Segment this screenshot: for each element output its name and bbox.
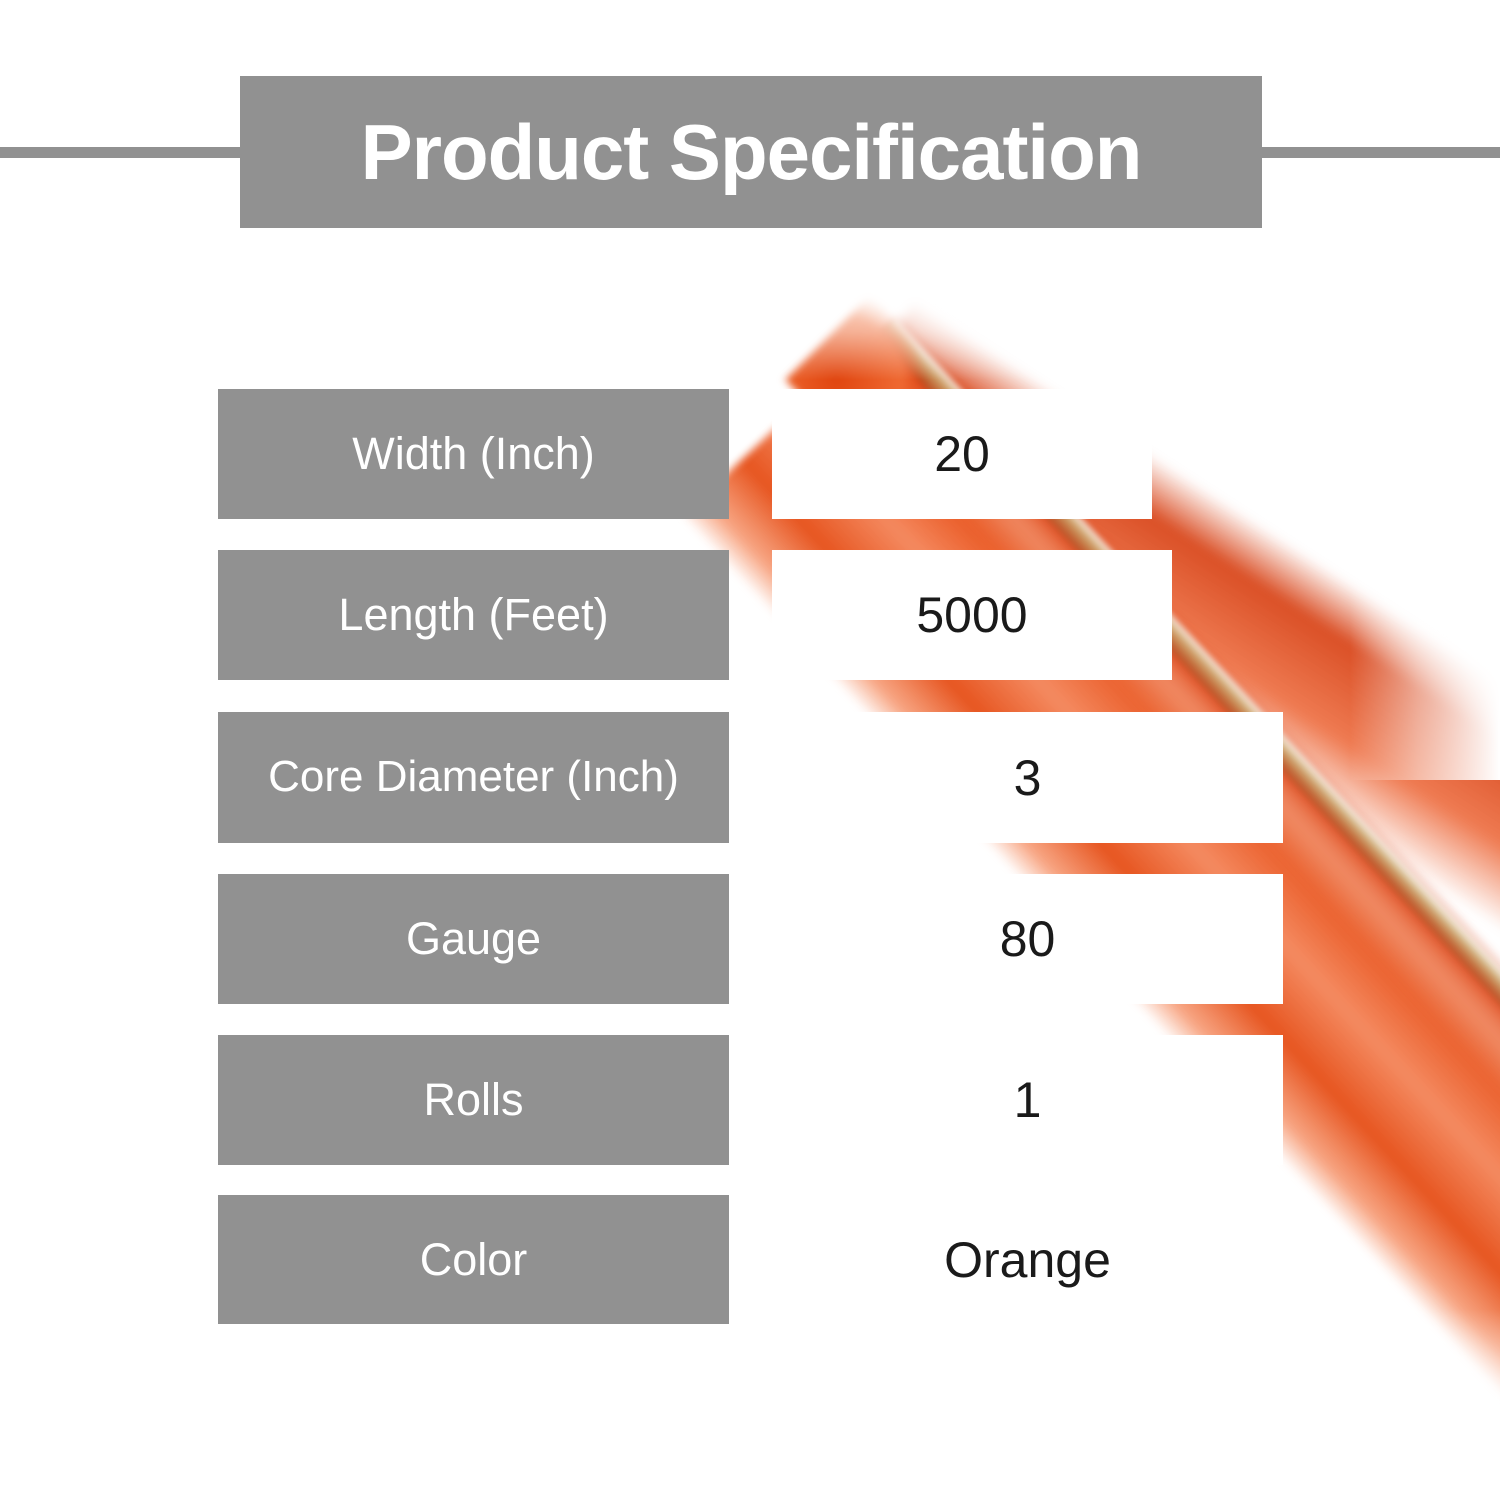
specification-table: Width (Inch) 20 Length (Feet) 5000 Core … bbox=[0, 0, 1500, 1500]
spec-label-length: Length (Feet) bbox=[218, 550, 729, 680]
spec-value-length: 5000 bbox=[772, 550, 1172, 680]
spec-value-color: Orange bbox=[772, 1195, 1283, 1324]
product-specification-card: Product Specification Width (Inch) 20 Le… bbox=[0, 0, 1500, 1500]
spec-value-rolls: 1 bbox=[772, 1035, 1283, 1165]
spec-label-core-diameter: Core Diameter (Inch) bbox=[218, 712, 729, 843]
spec-label-rolls: Rolls bbox=[218, 1035, 729, 1165]
spec-label-color: Color bbox=[218, 1195, 729, 1324]
spec-value-gauge: 80 bbox=[772, 874, 1283, 1004]
spec-value-width: 20 bbox=[772, 389, 1152, 519]
spec-label-gauge: Gauge bbox=[218, 874, 729, 1004]
spec-label-width: Width (Inch) bbox=[218, 389, 729, 519]
spec-value-core-diameter: 3 bbox=[772, 712, 1283, 843]
